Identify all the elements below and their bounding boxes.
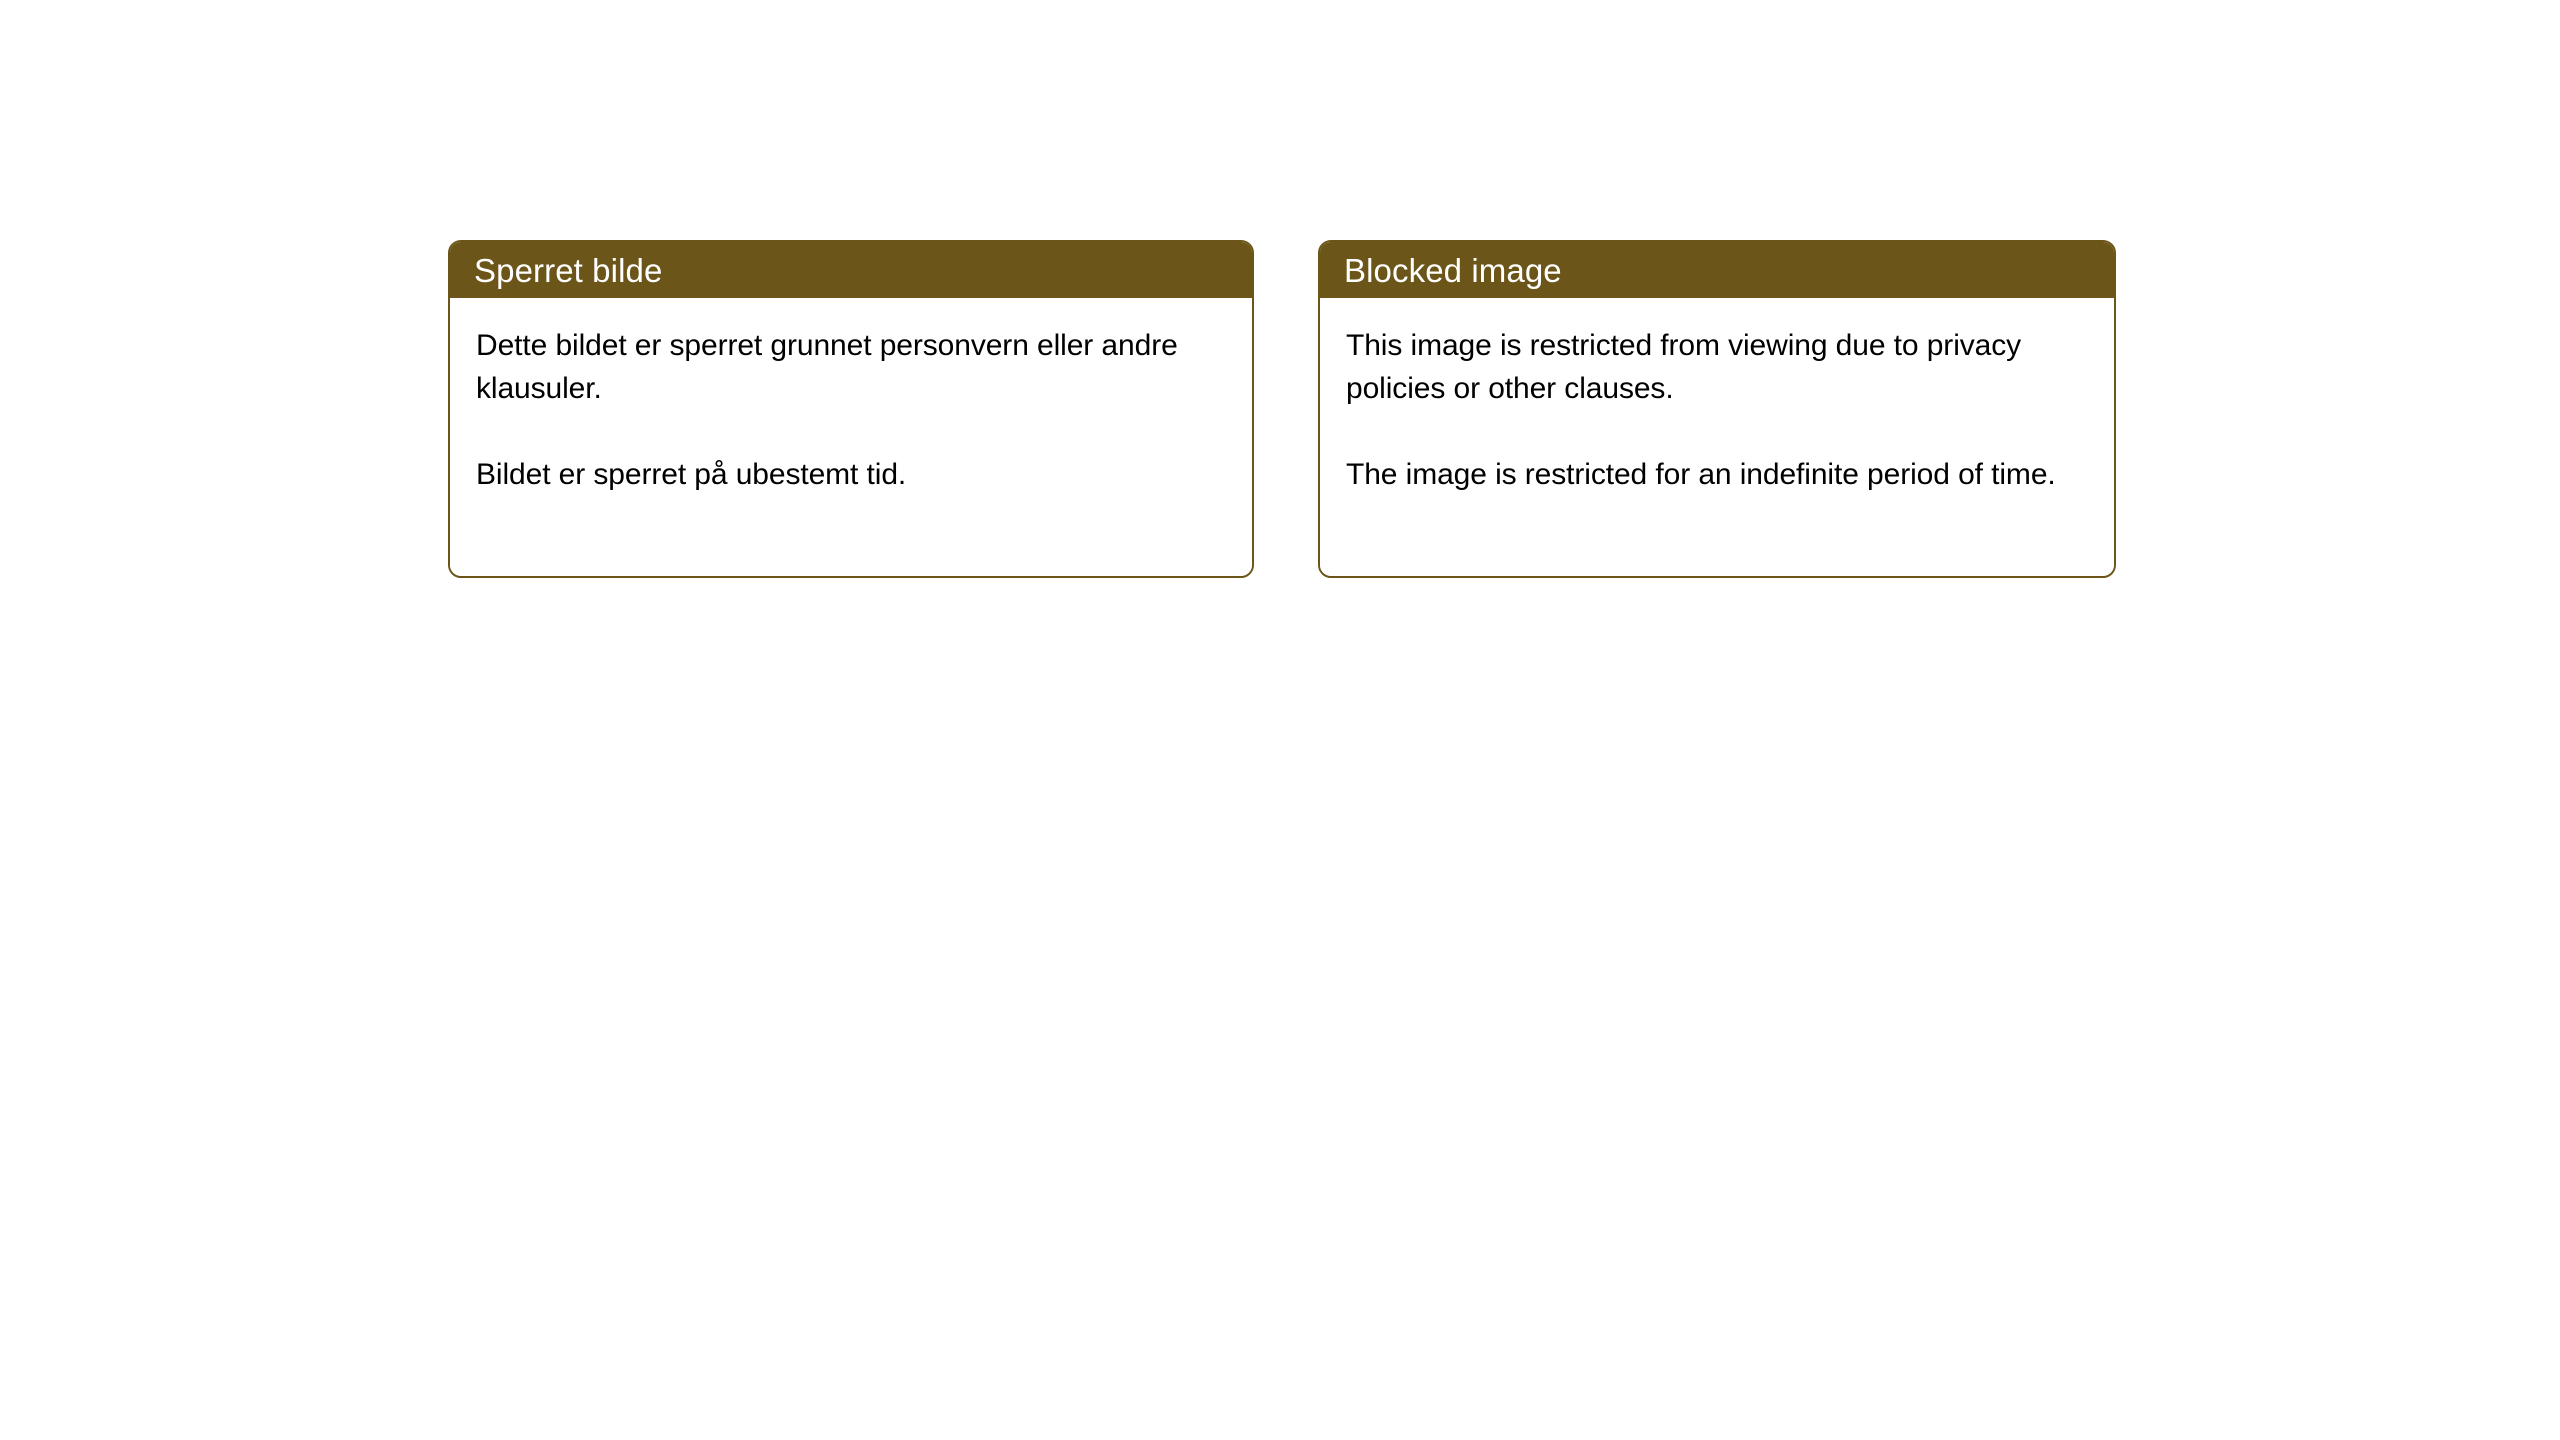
card-paragraph-duration-no: Bildet er sperret på ubestemt tid. <box>476 453 1228 496</box>
card-header-en: Blocked image <box>1320 242 2114 298</box>
card-paragraph-reason-en: This image is restricted from viewing du… <box>1346 324 2090 410</box>
card-paragraph-duration-en: The image is restricted for an indefinit… <box>1346 453 2090 496</box>
page-canvas: Sperret bilde Dette bildet er sperret gr… <box>0 0 2560 1440</box>
card-title-en: Blocked image <box>1344 254 1562 287</box>
card-body-no: Dette bildet er sperret grunnet personve… <box>450 298 1252 576</box>
blocked-image-notice-card-en: Blocked image This image is restricted f… <box>1318 240 2116 578</box>
blocked-image-notice-card-no: Sperret bilde Dette bildet er sperret gr… <box>448 240 1254 578</box>
card-header-no: Sperret bilde <box>450 242 1252 298</box>
card-title-no: Sperret bilde <box>474 254 662 287</box>
card-paragraph-reason-no: Dette bildet er sperret grunnet personve… <box>476 324 1228 410</box>
card-body-en: This image is restricted from viewing du… <box>1320 298 2114 576</box>
